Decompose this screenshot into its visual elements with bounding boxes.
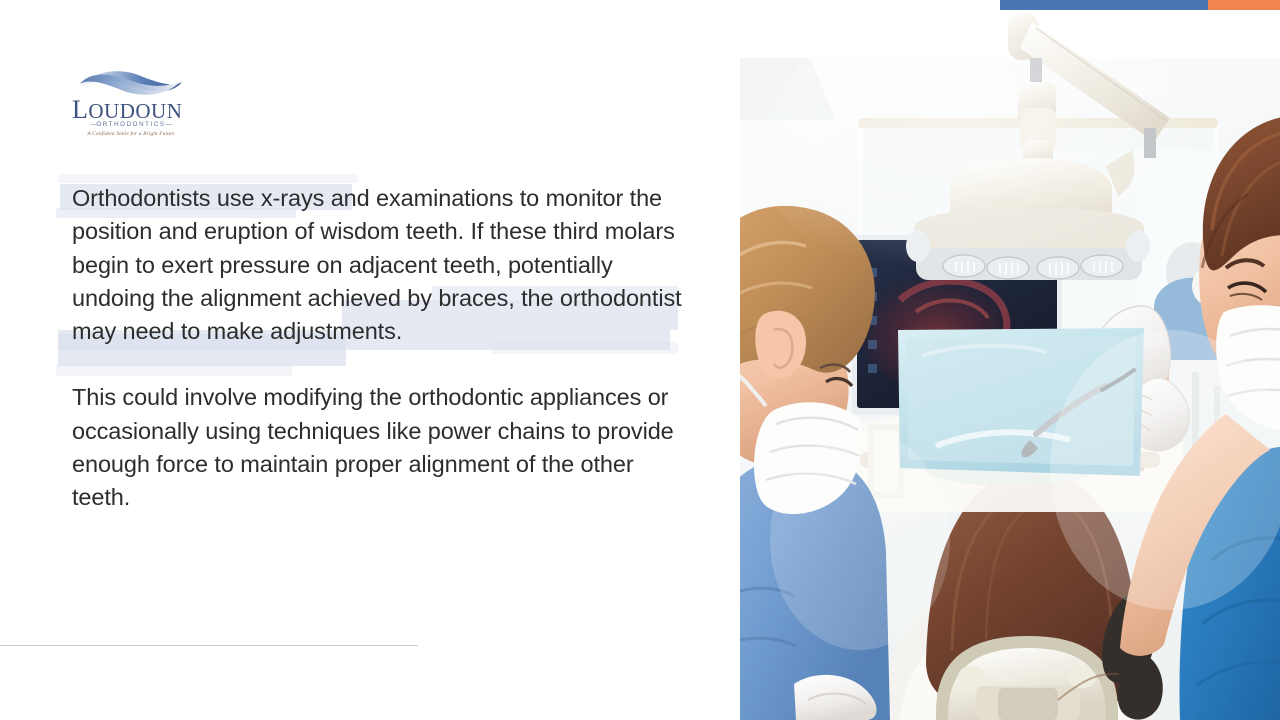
brand-logo: LOUDOUN —ORTHODONTICS— A Confident Smile… xyxy=(72,66,190,134)
paragraph-2-text: This could involve modifying the orthodo… xyxy=(72,384,674,510)
highlight-stroke xyxy=(58,174,358,183)
logo-subtitle-text: ORTHODONTICS xyxy=(96,121,165,128)
highlight-stroke xyxy=(492,342,678,354)
slide-root: LOUDOUN —ORTHODONTICS— A Confident Smile… xyxy=(0,0,1280,720)
logo-subtitle-dash-right: — xyxy=(166,121,172,128)
accent-bar-blue xyxy=(1000,0,1208,10)
body-copy: Orthodontists use x-rays and examination… xyxy=(72,182,697,515)
content-panel: LOUDOUN —ORTHODONTICS— A Confident Smile… xyxy=(0,0,740,720)
logo-wordmark-initial: L xyxy=(72,95,88,124)
logo-wordmark: LOUDOUN xyxy=(72,97,190,123)
accent-bar-orange xyxy=(1208,0,1280,10)
highlight-stroke xyxy=(56,364,292,376)
logo-wordmark-rest: OUDOUN xyxy=(88,99,182,123)
logo-subtitle: —ORTHODONTICS— xyxy=(72,121,190,128)
logo-swoosh-icon xyxy=(76,66,186,100)
clinic-photo xyxy=(740,0,1280,720)
footer-divider xyxy=(0,645,418,646)
paragraph-1: Orthodontists use x-rays and examination… xyxy=(72,182,697,348)
paragraph-1-text: Orthodontists use x-rays and examination… xyxy=(72,185,682,344)
logo-tagline: A Confident Smile for a Bright Future xyxy=(72,131,190,137)
paragraph-2: This could involve modifying the orthodo… xyxy=(72,381,697,514)
accent-bar-group xyxy=(1000,0,1280,10)
